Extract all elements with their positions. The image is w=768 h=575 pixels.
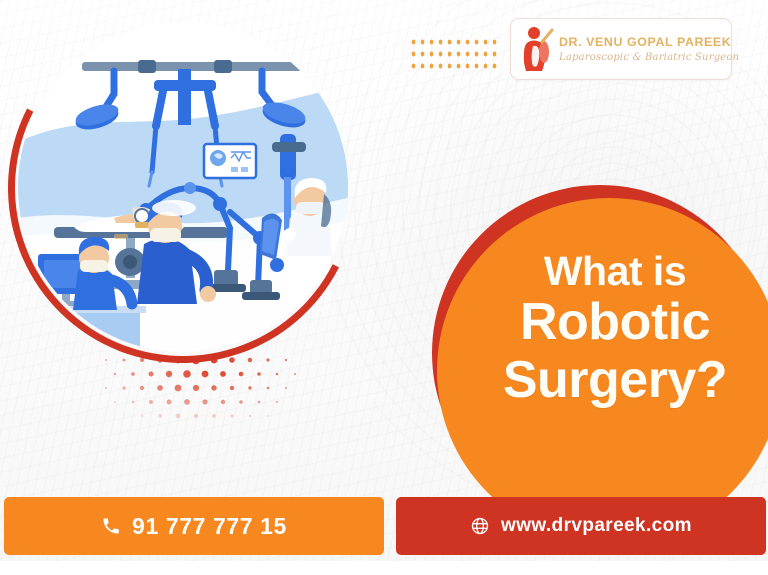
headline-line-2: Robotic — [470, 295, 760, 350]
brand-tagline: Laparoscopic & Bariatric Surgeon — [559, 52, 739, 63]
bottom-white-strip — [0, 561, 768, 575]
orange-dot-grid — [409, 36, 501, 74]
website-url: www.drvpareek.com — [501, 515, 692, 537]
globe-icon — [470, 516, 490, 536]
brand-logo-text: DR. VENU GOPAL PAREEK Laparoscopic & Bar… — [555, 35, 739, 63]
person-figure-icon — [521, 26, 555, 72]
headline-line-3: Surgery? — [470, 353, 760, 408]
brand-name: DR. VENU GOPAL PAREEK — [559, 35, 739, 49]
phone-number: 91 777 777 15 — [132, 513, 287, 540]
website-bar[interactable]: www.drvpareek.com — [396, 497, 766, 555]
headline-line-1: What is — [470, 250, 760, 293]
brand-logo-card: DR. VENU GOPAL PAREEK Laparoscopic & Bar… — [510, 18, 732, 80]
phone-icon — [101, 516, 121, 536]
page-title: What is Robotic Surgery? — [470, 250, 760, 408]
phone-contact-bar[interactable]: 91 777 777 15 — [4, 497, 384, 555]
red-halftone-dots — [96, 352, 301, 432]
poster-canvas: What is Robotic Surgery? DR. VENU GOPAL … — [0, 0, 768, 575]
